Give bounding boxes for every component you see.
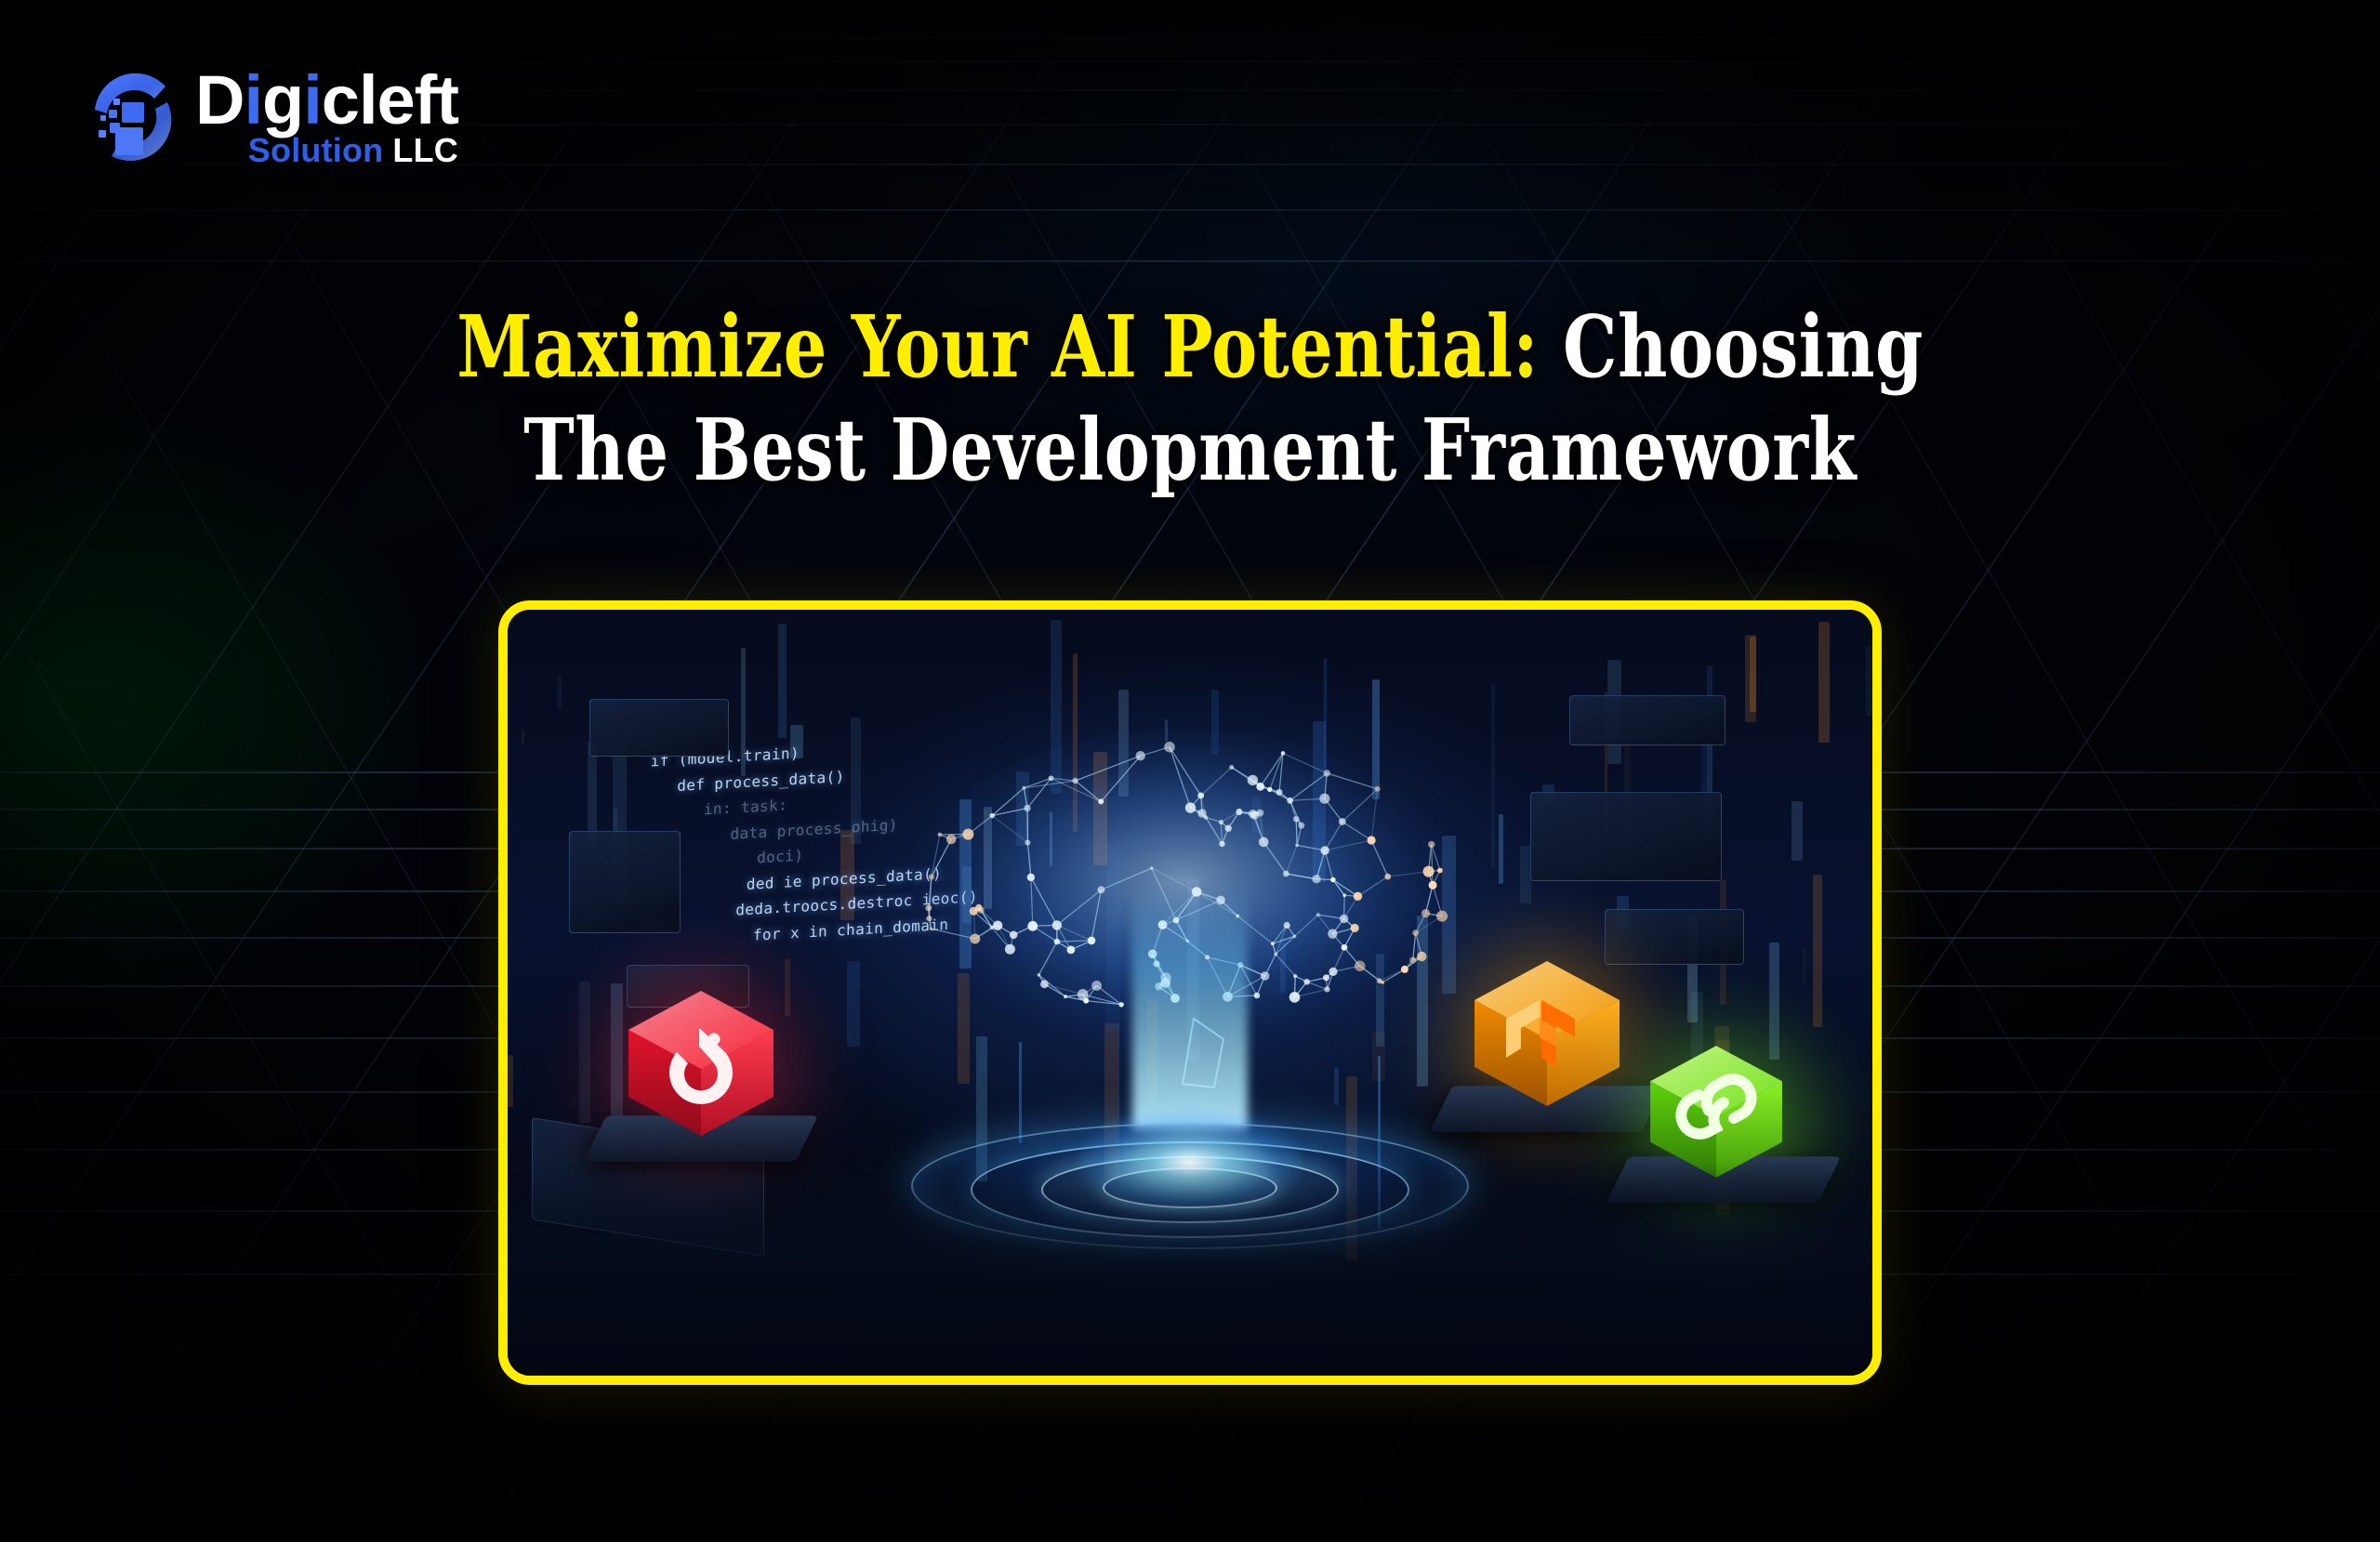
promo-banner: Digicleft SolutionLLC Maximize Your AI P… xyxy=(0,0,2380,1542)
brand-logo[interactable]: Digicleft SolutionLLC xyxy=(78,58,458,169)
brand-tagline-llc: LLC xyxy=(392,131,458,169)
hero-scene: if (model.train) def process_data() in: … xyxy=(508,610,1872,1376)
title-line-1: Maximize Your AI Potential: Choosing xyxy=(238,296,2142,399)
scene-panel-left-mid xyxy=(569,831,681,933)
scene-panel-left-top xyxy=(589,699,729,757)
scene-panel-right-top xyxy=(1569,695,1725,745)
framework-cube-pytorch xyxy=(619,982,783,1145)
page-title: Maximize Your AI Potential: Choosing The… xyxy=(0,296,2380,503)
brand-wordmark: Digicleft SolutionLLC xyxy=(195,58,458,167)
scene-floor xyxy=(508,1162,1872,1376)
title-highlight: Maximize Your AI Potential: xyxy=(456,297,1539,397)
title-line-1-rest: Choosing xyxy=(1563,297,1924,397)
brand-name: Digicleft xyxy=(195,69,458,132)
hero-image-card: if (model.train) def process_data() in: … xyxy=(498,600,1882,1385)
digicleft-d-mark-icon xyxy=(78,58,186,167)
title-line-2: The Best Development Framework xyxy=(238,399,2142,502)
brand-tagline-solution: Solution xyxy=(248,131,384,169)
brand-tagline: SolutionLLC xyxy=(195,134,458,167)
scene-panel-right-mid xyxy=(1530,792,1722,881)
